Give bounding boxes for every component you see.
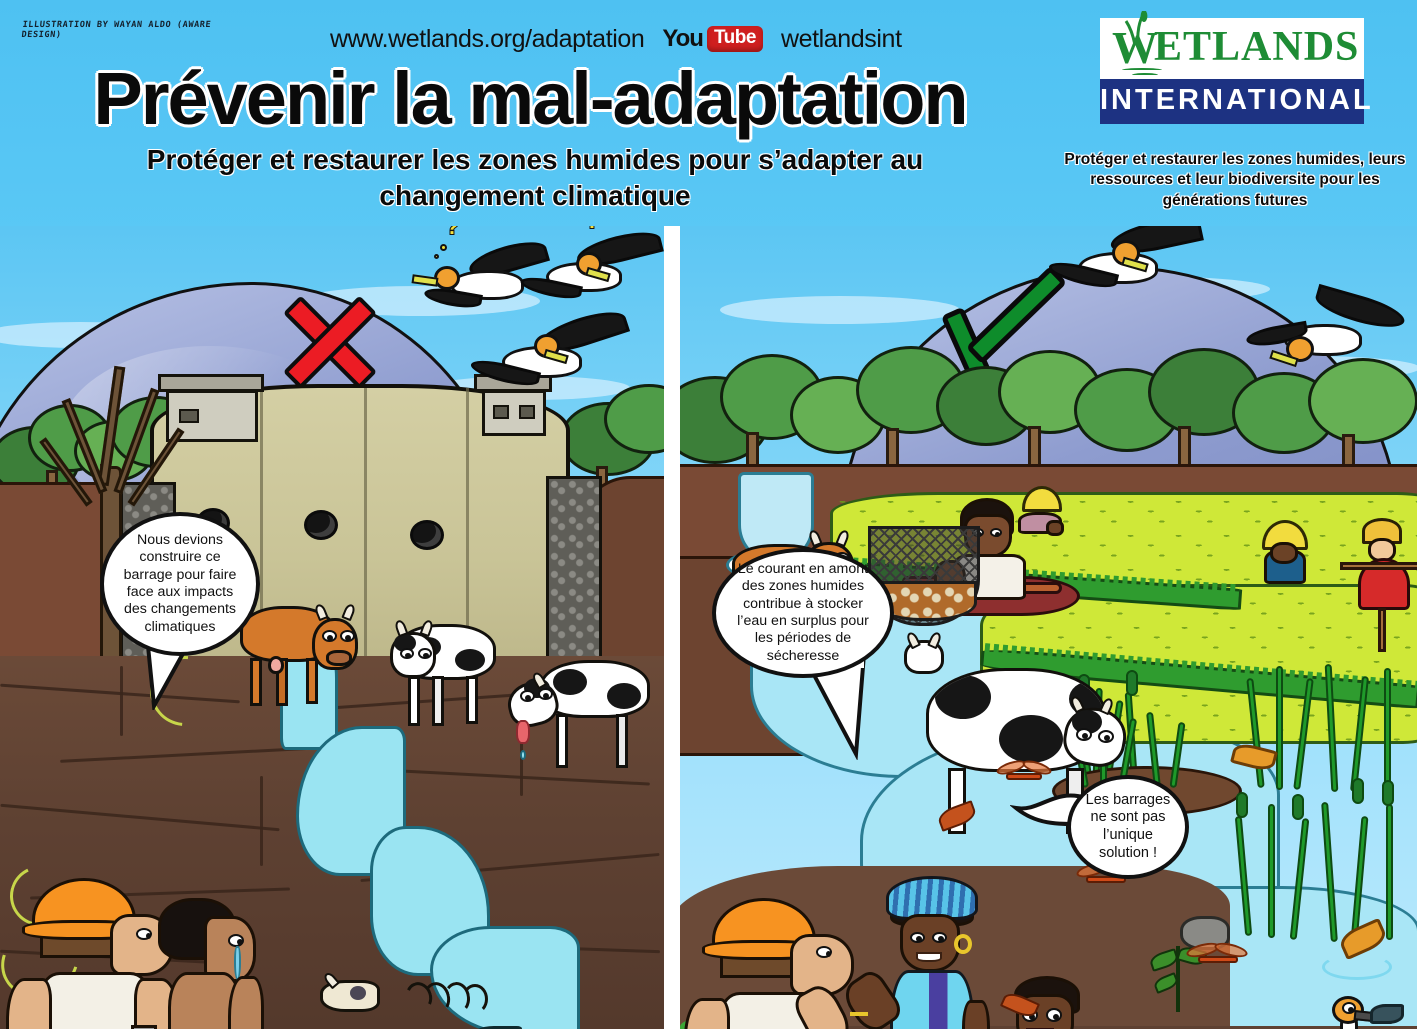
stork-with-fish xyxy=(1292,1008,1412,1029)
crying-villager xyxy=(142,898,322,1029)
paddy-farmer-1 xyxy=(1010,494,1070,550)
woman-smile xyxy=(916,952,942,962)
woman-arm-down xyxy=(962,1000,990,1029)
villager-arm xyxy=(228,976,264,1029)
paddy-farmer-2 xyxy=(1250,526,1322,598)
red-x-marker xyxy=(276,288,386,398)
speech-bubble-engineer-bad: Nous devions construire ce barrage pour … xyxy=(100,512,260,656)
cow-holstein-1 xyxy=(386,610,516,730)
stork-flying-2 xyxy=(1258,296,1408,376)
logo-ripple-icon xyxy=(1118,68,1354,77)
water-drop xyxy=(520,750,526,760)
youtube-you-text: You xyxy=(662,25,703,53)
dam-tower xyxy=(482,390,546,436)
page-subtitle: Protéger et restaurer les zones humides … xyxy=(140,142,930,214)
logo-upper-white-band: W ETLANDS xyxy=(1100,18,1364,79)
stork-confused-3 xyxy=(480,318,630,394)
youtube-logo[interactable]: You Tube xyxy=(662,25,763,53)
rib-bones xyxy=(406,982,490,1016)
dam-outlet xyxy=(304,510,338,540)
woman-face xyxy=(900,914,960,972)
engineer-arm-left xyxy=(684,998,730,1029)
cow-brown-thin xyxy=(240,596,360,706)
stork-confused-2: ? xyxy=(528,236,666,308)
logo-tagline: Protéger et restaurer les zones humides,… xyxy=(1060,150,1410,211)
dam-outlet xyxy=(410,520,444,550)
reeds-icon xyxy=(1124,11,1154,45)
speech-bubble-dams-good: Les barrages ne sont pas l’unique soluti… xyxy=(1067,775,1189,879)
youtube-handle[interactable]: wetlandsint xyxy=(781,25,902,54)
woman-earring xyxy=(954,934,972,954)
question-mark: ? xyxy=(446,226,459,240)
page-title: Prévenir la mal-adaptation xyxy=(0,56,1060,141)
cow-udder xyxy=(268,656,284,674)
dam-riprap-right xyxy=(546,476,602,666)
cloud xyxy=(720,296,960,324)
logo-etlands-text: ETLANDS xyxy=(1154,26,1359,68)
fish-in-beak xyxy=(1370,1004,1404,1024)
stork-flying-1 xyxy=(1060,226,1210,302)
illustration-credit: ILLUSTRATION BY WAYAN ALDO (AWARE DESIGN… xyxy=(21,20,253,40)
logo-wordmark: W ETLANDS xyxy=(1112,26,1354,68)
scarecrow xyxy=(1350,524,1417,624)
panel-maladaptation: ? ? xyxy=(0,226,666,1029)
tear xyxy=(234,946,241,980)
panel-divider xyxy=(664,226,680,1029)
youtube-tube-badge: Tube xyxy=(707,26,763,52)
water-splash xyxy=(1322,954,1392,980)
wetlands-international-logo[interactable]: W ETLANDS INTERNATIONAL xyxy=(1100,18,1364,124)
question-mark: ? xyxy=(586,226,599,234)
cow-holstein-2-drinking xyxy=(500,646,660,776)
woman-bangles xyxy=(850,1012,868,1029)
logo-international-band: INTERNATIONAL xyxy=(1100,79,1364,124)
dragonfly xyxy=(1180,944,1250,980)
website-url[interactable]: www.wetlands.org/adaptation xyxy=(330,25,644,54)
header-links-row: www.wetlands.org/adaptation You Tube wet… xyxy=(330,22,900,56)
speech-bubble-flow-good: Le courant en amont des zones humides co… xyxy=(712,548,894,678)
cow-tongue xyxy=(516,720,530,744)
poster-root: ILLUSTRATION BY WAYAN ALDO (AWARE DESIGN… xyxy=(0,0,1417,1029)
engineer-arm-left xyxy=(6,978,52,1029)
logo-letter-w: W xyxy=(1112,27,1158,68)
cow-eye xyxy=(322,630,337,642)
cow-eye xyxy=(340,630,355,642)
